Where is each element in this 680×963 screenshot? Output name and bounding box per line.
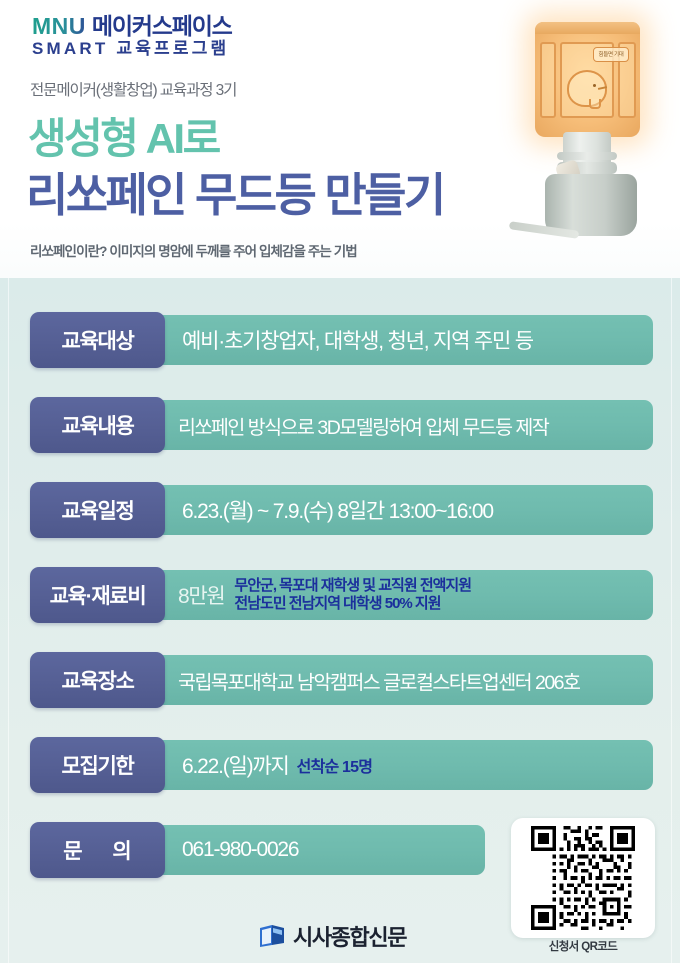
info-row-target: 교육대상 예비·초기창업자, 대학생, 청년, 지역 주민 등: [0, 312, 680, 368]
course-line: 전문메이커(생활창업) 교육과정 3기: [30, 78, 236, 100]
page-title-line2: 리쏘페인 무드등 만들기: [26, 172, 444, 218]
fee-support-line2: 전남도민 전남지역 대학생 50% 지원: [234, 595, 471, 613]
row-value-schedule: 6.23.(월) ~ 7.9.(수) 8일간 13:00~16:00: [150, 485, 653, 535]
row-label-fee: 교육·재료비: [30, 567, 165, 623]
info-row-deadline: 모집기한 6.22.(일)까지 선착순 15명: [0, 737, 680, 793]
brand-logo: MNU 메이커스페이스 SMART 교육프로그램: [32, 14, 292, 59]
newspaper-icon: [258, 923, 286, 949]
deadline-date: 6.22.(일)까지: [182, 750, 289, 780]
row-value-contact[interactable]: 061-980-0026: [150, 825, 485, 875]
info-row-schedule: 교육일정 6.23.(월) ~ 7.9.(수) 8일간 13:00~16:00: [0, 482, 680, 538]
row-label-contact: 문 의: [30, 822, 165, 878]
chick-beak: [598, 86, 607, 90]
lamp-speech-bubble: 힘들면 기대: [593, 47, 629, 62]
row-value-content: 리쏘페인 방식으로 3D모델링하여 입체 무드등 제작: [150, 400, 653, 450]
press-logo: 시사종합신문: [258, 920, 406, 952]
row-label-content: 교육내용: [30, 397, 165, 453]
brand-logo-line1: MNU 메이커스페이스: [32, 14, 292, 38]
row-label-schedule: 교육일정: [30, 482, 165, 538]
fee-amount: 8만원: [178, 580, 224, 610]
row-label-location: 교육장소: [30, 652, 165, 708]
row-value-target: 예비·초기창업자, 대학생, 청년, 지역 주민 등: [150, 315, 653, 365]
brand-logo-subline: SMART 교육프로그램: [32, 40, 292, 59]
lithophane-lamp-image: 힘들면 기대: [505, 4, 675, 259]
info-row-content: 교육내용 리쏘페인 방식으로 3D모델링하여 입체 무드등 제작: [0, 397, 680, 453]
qr-code-caption: 신청서 QR코드: [511, 938, 655, 954]
brand-logo-korean: 메이커스페이스: [92, 13, 232, 39]
row-label-target: 교육대상: [30, 312, 165, 368]
lamp-chick-illustration: [567, 70, 607, 107]
lamp-base: [545, 174, 637, 236]
row-value-deadline: 6.22.(일)까지 선착순 15명: [150, 740, 653, 790]
brand-logo-mnu: MNU: [32, 13, 86, 39]
row-value-fee: 8만원 무안군, 목포대 재학생 및 교직원 전액지원 전남도민 전남지역 대학…: [150, 570, 653, 620]
info-row-location: 교육장소 국립목포대학교 남악캠퍼스 글로컬스타트업센터 206호: [0, 652, 680, 708]
fee-support-line1: 무안군, 목포대 재학생 및 교직원 전액지원: [234, 577, 471, 595]
fee-support-notes: 무안군, 목포대 재학생 및 교직원 전액지원 전남도민 전남지역 대학생 50…: [234, 577, 471, 612]
info-row-fee: 교육·재료비 8만원 무안군, 목포대 재학생 및 교직원 전액지원 전남도민 …: [0, 567, 680, 623]
poster-root: MNU 메이커스페이스 SMART 교육프로그램 전문메이커(생활창업) 교육과…: [0, 0, 680, 963]
qr-code-card[interactable]: [511, 818, 655, 938]
press-name: 시사종합신문: [293, 920, 406, 952]
page-title-line1: 생성형 AI로: [28, 118, 219, 160]
chick-foot: [589, 99, 601, 109]
row-value-location: 국립목포대학교 남악캠퍼스 글로컬스타트업센터 206호: [150, 655, 653, 705]
title-note: 리쏘페인이란? 이미지의 명암에 두께를 주어 입체감을 주는 기법: [30, 240, 357, 260]
deadline-quota: 선착순 15명: [297, 753, 373, 777]
chick-eye: [593, 84, 596, 87]
lamp-panel-left: [540, 42, 556, 118]
qr-code-icon[interactable]: [531, 826, 635, 930]
row-label-deadline: 모집기한: [30, 737, 165, 793]
lamp-shade: 힘들면 기대: [535, 22, 640, 137]
